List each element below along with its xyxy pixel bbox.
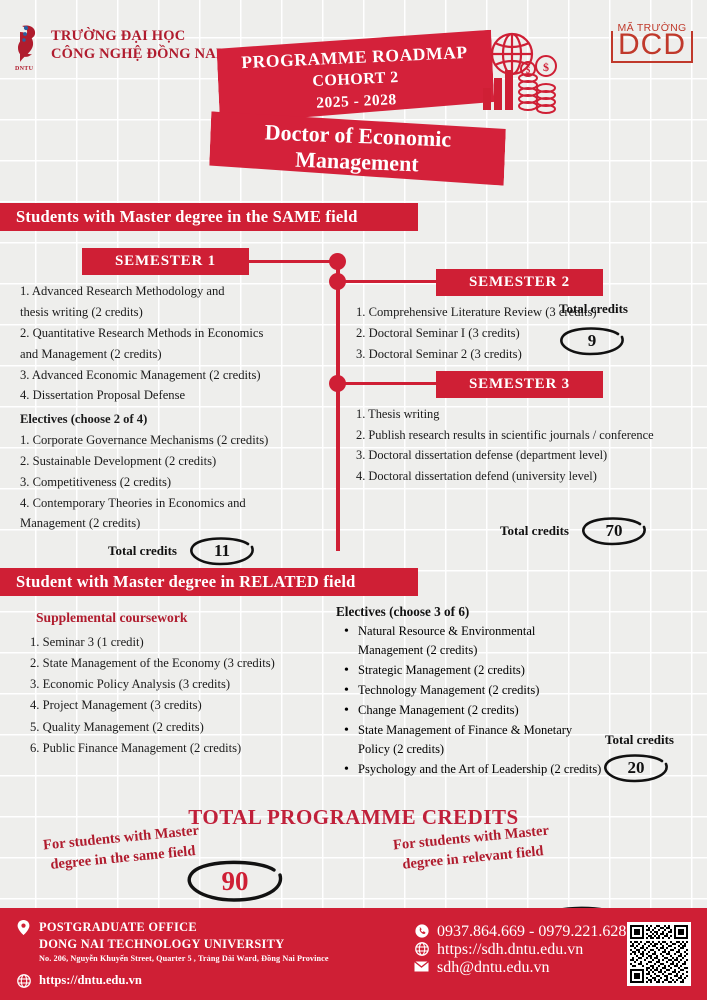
supplemental-coursework-title: Supplemental coursework	[36, 610, 187, 626]
total-credits-value-circle: 9	[556, 325, 628, 357]
list-item: Technology Management (2 credits)	[340, 681, 602, 700]
list-item: Management (2 credits)	[20, 513, 330, 534]
list-item: 1. Thesis writing	[356, 404, 676, 425]
list-item: 5. Quality Management (2 credits)	[30, 717, 350, 738]
list-item: Change Management (2 credits)	[340, 701, 602, 720]
university-name-line1: TRƯỜNG ĐẠI HỌC	[51, 28, 222, 46]
total-credits-related-field: Total credits 20	[600, 752, 672, 784]
footer-website-link[interactable]: https://dntu.edu.vn	[39, 973, 142, 988]
list-item: 3. Doctoral dissertation defense (depart…	[356, 445, 676, 466]
total-credits-label: Total credits	[500, 523, 569, 539]
list-item: 3. Advanced Economic Management (2 credi…	[20, 365, 330, 386]
list-item: 6. Public Finance Management (2 credits)	[30, 738, 350, 759]
supplemental-coursework-list: 1. Seminar 3 (1 credit) 2. State Managem…	[30, 632, 350, 759]
svg-text:$: $	[543, 60, 549, 74]
total-credits-label: Total credits	[108, 543, 177, 559]
dntu-logo-icon: DNTU	[14, 22, 44, 70]
list-item: 2. Sustainable Development (2 credits)	[20, 451, 330, 472]
list-item: 4. Doctoral dissertation defend (univers…	[356, 466, 676, 487]
phone-icon	[414, 923, 429, 938]
location-pin-icon	[16, 920, 31, 935]
footer-site2-row[interactable]: https://sdh.dntu.edu.vn	[414, 941, 626, 959]
total-credits-label: Total credits	[559, 301, 628, 317]
semester-3-course-list: 1. Thesis writing 2. Publish research re…	[356, 404, 676, 486]
list-item: Psychology and the Art of Leadership (2 …	[340, 760, 602, 779]
total-credits-value-circle: 11	[186, 535, 258, 567]
total-credits-label: Total credits	[605, 732, 674, 748]
list-item: 1. Corporate Governance Mechanisms (2 cr…	[20, 430, 330, 451]
footer-phone[interactable]: 0937.864.669 - 0979.221.628	[437, 923, 626, 941]
list-item: 2. Quantitative Research Methods in Econ…	[20, 323, 330, 344]
svg-text:$: $	[526, 65, 531, 75]
qr-code-icon[interactable]	[627, 922, 691, 986]
timeline-connector-sem2	[340, 280, 436, 283]
footer-left-block: POSTGRADUATE OFFICE DONG NAI TECHNOLOGY …	[16, 920, 329, 988]
total-credits-value-circle: 20	[600, 752, 672, 784]
list-item: 3. Economic Policy Analysis (3 credits)	[30, 674, 350, 695]
semester-1-chip: SEMESTER 1	[82, 248, 249, 275]
section-bar-related-field: Student with Master degree in RELATED fi…	[0, 568, 418, 596]
globe-icon	[414, 941, 429, 956]
list-item: Strategic Management (2 credits)	[340, 661, 602, 680]
footer-graduate-site-link[interactable]: https://sdh.dntu.edu.vn	[437, 941, 583, 959]
timeline-dot-1	[329, 253, 346, 270]
footer-email[interactable]: sdh@dntu.edu.vn	[437, 959, 550, 977]
school-code-badge: MÃ TRƯỜNG DCD	[611, 22, 693, 63]
list-item: 1. Seminar 3 (1 credit)	[30, 632, 350, 653]
title-ribbon-upper-text: PROGRAMME ROADMAP COHORT 2 2025 - 2028	[216, 34, 494, 124]
semester-1-course-list: 1. Advanced Research Methodology and the…	[20, 281, 330, 406]
total-credits-value: 20	[628, 758, 645, 778]
semester-1-electives: Electives (choose 2 of 4) 1. Corporate G…	[20, 409, 330, 534]
electives-title: Electives (choose 2 of 4)	[20, 409, 330, 430]
list-item: 2. Publish research results in scientifi…	[356, 425, 676, 446]
timeline-connector-sem1	[249, 260, 331, 263]
list-item: 4. Dissertation Proposal Defense	[20, 385, 330, 406]
total-programme-title: TOTAL PROGRAMME CREDITS	[0, 805, 707, 830]
timeline-dot-3	[329, 375, 346, 392]
university-name-line2: CÔNG NGHỆ ĐỒNG NAI	[51, 46, 222, 64]
list-item: thesis writing (2 credits)	[20, 302, 330, 323]
footer-university-name: DONG NAI TECHNOLOGY UNIVERSITY	[39, 937, 329, 952]
footer-phone-row[interactable]: 0937.864.669 - 0979.221.628	[414, 923, 626, 941]
mail-icon	[414, 959, 429, 974]
total-same-field-value: 90	[222, 866, 249, 897]
footer-website-row[interactable]: https://dntu.edu.vn	[16, 973, 329, 988]
list-item: 1. Advanced Research Methodology and	[20, 281, 330, 302]
globe-icon	[16, 973, 31, 988]
semester-2-chip: SEMESTER 2	[436, 269, 603, 296]
list-item: 4. Project Management (3 credits)	[30, 695, 350, 716]
total-same-field-value-circle: 90	[182, 858, 288, 904]
footer-address: No. 206, Nguyễn Khuyến Street, Quarter 5…	[39, 954, 329, 963]
years-label: 2025 - 2028	[316, 90, 397, 115]
total-credits-semester-2: Total credits 9	[556, 325, 628, 357]
university-name: TRƯỜNG ĐẠI HỌC CÔNG NGHỆ ĐỒNG NAI	[51, 28, 222, 63]
list-item: Natural Resource & Environmental Managem…	[340, 622, 602, 660]
footer: POSTGRADUATE OFFICE DONG NAI TECHNOLOGY …	[0, 908, 707, 1000]
footer-office-row: POSTGRADUATE OFFICE DONG NAI TECHNOLOGY …	[16, 920, 329, 963]
footer-email-row[interactable]: sdh@dntu.edu.vn	[414, 959, 626, 977]
timeline-vertical-line	[336, 258, 340, 551]
list-item: 2. State Management of the Economy (3 cr…	[30, 653, 350, 674]
total-credits-value: 70	[605, 521, 622, 541]
total-credits-semester-1: Total credits 11	[108, 535, 258, 567]
school-code-value: DCD	[611, 31, 693, 63]
timeline-connector-sem3	[340, 382, 436, 385]
degree-subtitle: Doctor of Economic Management	[209, 111, 506, 185]
list-item: and Management (2 credits)	[20, 344, 330, 365]
footer-office-name: POSTGRADUATE OFFICE	[39, 920, 329, 935]
university-logo: DNTU TRƯỜNG ĐẠI HỌC CÔNG NGHỆ ĐỒNG NAI	[14, 22, 222, 70]
poster-root: DNTU TRƯỜNG ĐẠI HỌC CÔNG NGHỆ ĐỒNG NAI M…	[0, 0, 707, 1000]
timeline-dot-2	[329, 273, 346, 290]
footer-right-block: 0937.864.669 - 0979.221.628 https://sdh.…	[414, 923, 626, 977]
list-item: 4. Contemporary Theories in Economics an…	[20, 493, 330, 514]
total-credits-value: 11	[214, 541, 230, 561]
list-item: 3. Competitiveness (2 credits)	[20, 472, 330, 493]
list-item: State Management of Finance & Monetary P…	[340, 721, 602, 759]
related-electives-title: Electives (choose 3 of 6)	[336, 604, 469, 620]
semester-3-chip: SEMESTER 3	[436, 371, 603, 398]
total-credits-semester-3: Total credits 70	[500, 515, 650, 547]
total-credits-value-circle: 70	[578, 515, 650, 547]
logo-abbreviation: DNTU	[15, 66, 33, 72]
section-bar-same-field: Students with Master degree in the SAME …	[0, 203, 418, 231]
globe-chart-coins-icon: $ $	[478, 30, 558, 116]
related-electives-list: Natural Resource & Environmental Managem…	[340, 622, 602, 780]
total-credits-value: 9	[588, 331, 597, 351]
